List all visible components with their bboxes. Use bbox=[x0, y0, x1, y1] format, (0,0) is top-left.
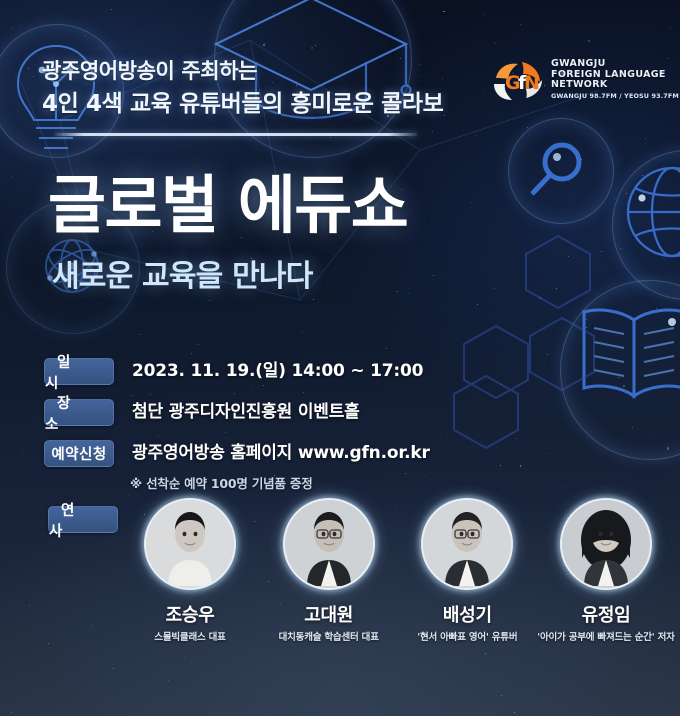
speaker-avatar-wrap bbox=[423, 500, 511, 588]
magnifier-icon bbox=[512, 128, 602, 218]
speakers-list: 조승우스몰빅클래스 대표 고대원대치동캐슬 학습센터 대표 bbox=[128, 500, 668, 645]
info-value[interactable]: 광주영어방송 홈페이지 www.gfn.or.kr bbox=[132, 440, 430, 466]
info-label-badge: 예약신청 bbox=[44, 440, 114, 467]
gfn-logo-text: GWANGJU FOREIGN LANGUAGE NETWORK GWANGJU… bbox=[551, 59, 679, 101]
gfn-logo-icon: G f N bbox=[492, 58, 544, 102]
speaker-role: 스몰빅클래스 대표 bbox=[154, 631, 225, 645]
header-text-block: 광주영어방송이 주최하는 4인 4색 교육 유튜버들의 흥미로운 콜라보 bbox=[42, 56, 472, 121]
page-title: 글로벌 에듀쇼 bbox=[48, 168, 407, 244]
speaker-role: '아이가 공부에 빠져드는 순간' 저자 bbox=[537, 631, 674, 645]
header-line-1: 광주영어방송이 주최하는 bbox=[42, 56, 472, 86]
globe-glow-ring bbox=[612, 150, 680, 300]
info-row: 예약신청광주영어방송 홈페이지 www.gfn.or.kr bbox=[44, 440, 644, 467]
globe-icon bbox=[620, 160, 680, 290]
speaker-card: 유정임'아이가 공부에 빠져드는 순간' 저자 bbox=[544, 500, 668, 645]
header-line-2: 4인 4색 교육 유튜버들의 흥미로운 콜라보 bbox=[42, 88, 472, 121]
gfn-logo: G f N GWANGJU FOREIGN LANGUAGE NETWORK G… bbox=[492, 58, 679, 102]
speakers-section-label-wrap: 연 사 bbox=[48, 506, 118, 533]
speaker-role: '현서 아빠표 영어' 유튜버 bbox=[417, 631, 517, 645]
speaker-name: 배성기 bbox=[443, 604, 492, 628]
info-label-badge: 일 시 bbox=[44, 358, 114, 385]
speaker-role: 대치동캐슬 학습센터 대표 bbox=[279, 631, 379, 645]
avatar bbox=[562, 500, 650, 588]
avatar bbox=[146, 500, 234, 588]
info-row: 장 소첨단 광주디자인진흥원 이벤트홀 bbox=[44, 399, 644, 426]
speaker-avatar-wrap bbox=[562, 500, 650, 588]
speaker-name: 조승우 bbox=[166, 604, 215, 628]
speaker-avatar-wrap bbox=[285, 500, 373, 588]
info-value: 2023. 11. 19.(일) 14:00 ~ 17:00 bbox=[132, 358, 423, 384]
avatar bbox=[423, 500, 511, 588]
logo-frequency: GWANGJU 98.7FM / YEOSU 93.7FM bbox=[551, 92, 679, 101]
page-subtitle: 새로운 교육을 만나다 bbox=[52, 256, 313, 298]
speaker-card: 조승우스몰빅클래스 대표 bbox=[128, 500, 252, 645]
info-label-badge: 장 소 bbox=[44, 399, 114, 426]
event-info-block: 일 시2023. 11. 19.(일) 14:00 ~ 17:00장 소첨단 광… bbox=[44, 358, 644, 494]
speaker-card: 고대원대치동캐슬 학습센터 대표 bbox=[267, 500, 391, 645]
info-value: 첨단 광주디자인진흥원 이벤트홀 bbox=[132, 399, 360, 425]
magnifier-glow-ring bbox=[508, 118, 614, 224]
speaker-name: 유정임 bbox=[582, 604, 631, 628]
speaker-avatar-wrap bbox=[146, 500, 234, 588]
speaker-card: 배성기'현서 아빠표 영어' 유튜버 bbox=[405, 500, 529, 645]
info-row: 일 시2023. 11. 19.(일) 14:00 ~ 17:00 bbox=[44, 358, 644, 385]
info-note: ※ 선착순 예약 100명 기념품 증정 bbox=[130, 474, 644, 494]
header-divider bbox=[55, 133, 417, 136]
speaker-name: 고대원 bbox=[304, 604, 353, 628]
logo-line-3: NETWORK bbox=[551, 80, 679, 91]
speakers-section-label: 연 사 bbox=[48, 506, 118, 533]
svg-text:N: N bbox=[524, 72, 540, 94]
event-poster: 광주영어방송이 주최하는 4인 4색 교육 유튜버들의 흥미로운 콜라보 G f… bbox=[0, 0, 680, 716]
avatar bbox=[285, 500, 373, 588]
